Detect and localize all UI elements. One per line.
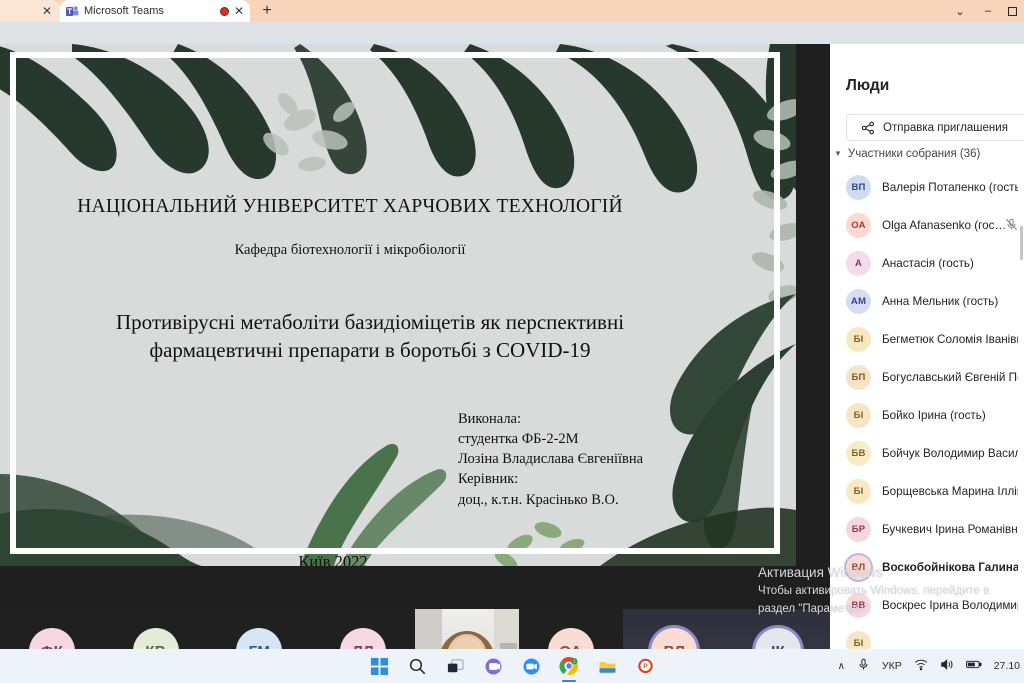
wifi-icon[interactable] [914,658,928,674]
participant-name: Бучкевич Ірина Романівна [882,523,1018,536]
avatar: ВЛ [846,555,871,580]
participant-row-active-speaker[interactable]: ВЛ Воскобойнікова Галина Л… [830,548,1024,586]
participant-row[interactable]: БР Бучкевич Ірина Романівна [830,510,1024,548]
avatar: АМ [846,289,871,314]
slide-city-year: Київ 2022 [0,552,666,566]
chevron-down-icon[interactable]: ▼ [834,150,842,158]
avatar: БІ [846,479,871,504]
mic-off-icon[interactable] [1005,218,1018,236]
browser-tab-partial[interactable]: ✕ [0,0,60,22]
meeting-stage: НАЦІОНАЛЬНИЙ УНІВЕРСИТЕТ ХАРЧОВИХ ТЕХНОЛ… [0,44,830,649]
participant-name: Бойко Ірина (гость) [882,409,986,422]
participant-tile[interactable]: ІК [726,609,830,649]
tab-strip: ✕ Microsoft Teams ✕ + ⌄ – [0,0,1024,22]
clock[interactable]: 27.10 [994,660,1020,672]
tab-search-icon[interactable]: ⌄ [948,0,972,22]
participants-group-header[interactable]: ▼ Участники собрания (36) [834,148,1024,160]
windows-start-icon[interactable] [367,654,391,678]
avatar: БР [846,517,871,542]
participant-row[interactable]: БІ Бойко Ірина (гость) [830,396,1024,434]
slide-title: Противірусні метаболіти базидіоміцетів я… [30,309,710,365]
close-icon[interactable]: ✕ [42,5,52,17]
zoom-icon[interactable] [519,654,543,678]
slide-text-content: НАЦІОНАЛЬНИЙ УНІВЕРСИТЕТ ХАРЧОВИХ ТЕХНОЛ… [0,44,796,566]
avatar: ЛЛ [340,628,386,649]
avatar: ФК [29,628,75,649]
share-icon [861,121,875,138]
browser-tab-teams[interactable]: Microsoft Teams ✕ [60,0,250,22]
browser-window: ✕ Microsoft Teams ✕ + ⌄ – [0,0,1024,683]
author-line: Виконала: [458,409,778,429]
svg-text:P: P [643,663,648,670]
slide-title-line-1: Противірусні метаболіти базидіоміцетів я… [30,309,710,337]
participant-name: Воскрес Ірина Володимирі… [882,599,1018,612]
slide-university-name: НАЦІОНАЛЬНИЙ УНІВЕРСИТЕТ ХАРЧОВИХ ТЕХНОЛ… [0,196,700,218]
powerpoint-icon[interactable]: P [633,654,657,678]
participant-tile[interactable]: ВЛ [623,609,727,649]
send-invitation-button[interactable]: Отправка приглашения [846,114,1024,141]
people-panel-title: Люди [846,77,889,95]
participant-tile[interactable]: ФК [0,609,104,649]
participant-row[interactable]: ВП Валерія Потапенко (гость) [830,168,1024,206]
participant-row-olga[interactable]: ОА Olga Afanasenko (гос… [830,206,1024,244]
teams-icon[interactable] [481,654,505,678]
participant-tile[interactable]: КВ [104,609,208,649]
participant-row[interactable]: БП Богуславський Євгеній Пет… [830,358,1024,396]
close-icon[interactable]: ✕ [234,5,244,17]
participant-name: Валерія Потапенко (гость) [882,181,1018,194]
participant-row[interactable]: БВ Бойчук Володимир Василь… [830,434,1024,472]
participant-name: Бегметюк Соломія Іванівна [882,333,1018,346]
search-icon[interactable] [405,654,429,678]
author-line: доц., к.т.н. Красінько В.О. [458,490,778,510]
participant-name: Воскобойнікова Галина Л… [882,561,1018,574]
author-line: студентка ФБ-2-2М [458,429,778,449]
avatar: ІК [755,628,801,649]
mic-icon[interactable] [857,658,870,674]
avatar: ГМ [236,628,282,649]
chrome-icon[interactable]: 1 [557,654,581,678]
participant-list: ВП Валерія Потапенко (гость) ОА Olga Afa… [830,168,1024,662]
battery-icon[interactable] [966,659,982,673]
slide-authors-block: Виконала: студентка ФБ-2-2М Лозіна Влади… [458,409,778,510]
participant-name: Анна Мельник (гость) [882,295,998,308]
participant-row[interactable]: БІ Борщевська Марина Ілліні… [830,472,1024,510]
slide-title-line-2: фармацевтичні препарати в боротьбі з COV… [30,337,710,365]
webcam-feed [415,609,519,649]
avatar: БП [846,365,871,390]
slide-department: Кафедра біотехнології і мікробіології [0,242,700,259]
teams-icon [66,5,79,18]
participants-group-label: Участники собрания (36) [848,148,980,160]
participant-tile[interactable]: ЛЛ [311,609,415,649]
avatar: КВ [133,628,179,649]
language-indicator[interactable]: УКР [882,660,902,672]
task-view-icon[interactable] [443,654,467,678]
shared-slide[interactable]: НАЦІОНАЛЬНИЙ УНІВЕРСИТЕТ ХАРЧОВИХ ТЕХНОЛ… [0,44,796,566]
recording-indicator-icon[interactable] [220,7,229,16]
author-line: Керівник: [458,469,778,489]
new-tab-button[interactable]: + [256,1,278,21]
author-line: Лозіна Владислава Євгеніївна [458,449,778,469]
tray-overflow-icon[interactable]: ∧ [838,661,845,672]
avatar: БІ [846,403,871,428]
participant-name: Борщевська Марина Ілліні… [882,485,1018,498]
avatar: ВЛ [651,628,697,649]
avatar: ВВ [846,593,871,618]
participant-tile-olga[interactable]: ОА ✋ Olga Afanasenk… [519,609,623,649]
participant-name: Анастасія (гость) [882,257,974,270]
participant-name: Olga Afanasenko (гос… [882,219,1006,232]
send-invitation-label: Отправка приглашения [883,122,1008,134]
system-tray: ∧ УКР [838,649,1020,683]
tab-title: Microsoft Teams [84,5,215,17]
file-explorer-icon[interactable] [595,654,619,678]
minimize-button[interactable]: – [976,0,1000,22]
avatar: ОА [846,213,871,238]
maximize-button[interactable] [1000,0,1024,22]
avatar: ВП [846,175,871,200]
participant-filmstrip: ФК КВ ГМ ЛЛ ОА [0,609,830,649]
avatar: БВ [846,441,871,466]
avatar: А [846,251,871,276]
participant-row[interactable]: БІ Бегметюк Соломія Іванівна [830,320,1024,358]
participant-video-tile[interactable] [415,609,519,649]
participant-name: Богуславський Євгеній Пет… [882,371,1018,384]
active-app-indicator [562,680,576,683]
participant-tile[interactable]: ГМ [208,609,312,649]
participant-row[interactable]: ВВ Воскрес Ірина Володимирі… [830,586,1024,624]
windows-taskbar: 1 P ∧ [0,649,1024,683]
avatar: ОА [548,628,594,649]
participant-row[interactable]: АМ Анна Мельник (гость) [830,282,1024,320]
volume-icon[interactable] [940,658,954,674]
avatar: БІ [846,327,871,352]
omnibox-row: microsoft.com/_#/pre-join-calling/19:mee… [0,22,1024,44]
participant-name: Бойчук Володимир Василь… [882,447,1018,460]
participant-row[interactable]: А Анастасія (гость) [830,244,1024,282]
